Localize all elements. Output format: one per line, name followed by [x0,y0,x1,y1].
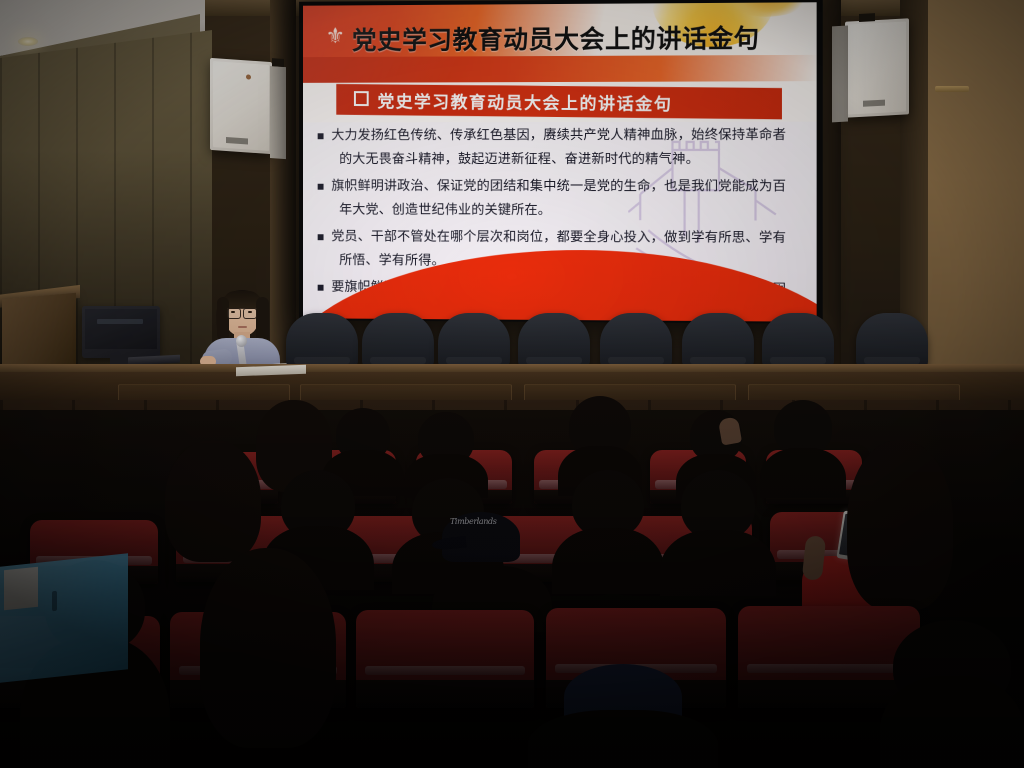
wall-speaker-left [210,58,272,154]
stage-chair [762,313,834,367]
eye-right [248,311,252,313]
monitor-glow [97,319,143,324]
monitor-stand [110,355,130,364]
bullet-line-2: 的大无畏奋斗精神，鼓起迈进新征程、奋进新时代的精气神。 [331,148,802,172]
stage-desk-edge [0,364,1024,372]
speaker-hair-right [256,297,269,343]
audience-raised-hand [712,418,752,458]
door-handle-icon [935,86,969,92]
speaker-side [832,26,848,123]
cpc-hammer-sickle-icon: ⚜ [323,23,348,49]
eye-left [231,311,235,313]
slide-header-ribbon: ⚜ 党史学习教育动员大会上的讲话金句 [303,2,817,83]
audience-person [552,470,664,594]
cap-logo-text: Timberlands [450,517,496,526]
blue-bag-icon [0,553,128,682]
person-shoulders [552,528,664,594]
stage-chair [286,313,358,367]
stage-chair [856,313,928,367]
hand-icon [718,416,742,445]
audience-person [660,470,776,596]
slide-body: 大力发扬红色传统、传承红色基因，赓续共产党人精神血脉，始终保持革命者 的大无畏奋… [303,122,817,322]
audience-person [840,440,960,620]
slide-title: 党史学习教育动员大会上的讲话金句 [352,19,760,57]
stage-chair [518,313,590,367]
person-shoulders [660,530,776,596]
monitor-screen [85,309,157,349]
square-bullet-icon [354,91,369,106]
speaker-logo [863,100,885,107]
bag-label [4,567,38,611]
audience-seat [356,610,534,708]
stage-chair [362,313,434,367]
microphone-head [236,335,247,347]
projection-screen: ⚜ 党史学习教育动员大会上的讲话金句 党史学习教育动员大会上的讲话金句 [299,0,823,324]
lens-right [243,308,257,319]
person-long-hair [847,440,953,610]
bullet-line-1: 党员、干部不管处在哪个层次和岗位，都要全身心投入，做到学有所思、学有 [331,229,786,245]
wall-speaker-right [845,18,909,117]
audience-raised-arm [790,520,830,580]
slide-subheader-text: 党史学习教育动员大会上的讲话金句 [378,92,673,115]
seat-base [356,680,534,708]
speaker-led-icon [246,74,251,79]
stage-chair [682,313,754,367]
desktop-monitor-icon [82,306,160,358]
mouth [238,326,247,328]
audience-person [880,620,1024,768]
speaker-bracket [272,58,284,67]
bullet-line-1: 旗帜鲜明讲政治、保证党的团结和集中统一是党的生命，也是我们党能成为百 [331,179,786,194]
cap-brim [432,536,467,550]
bullet-line-1: 大力发扬红色传统、传承红色基因，赓续共产党人精神血脉，始终保持革命者 [331,128,786,143]
list-item: 旗帜鲜明讲政治、保证党的团结和集中统一是党的生命，也是我们党能成为百 年大党、创… [317,175,803,224]
lecture-hall-photo: ⚜ 党史学习教育动员大会上的讲话金句 党史学习教育动员大会上的讲话金句 [0,0,1024,768]
stage-chair [438,313,510,367]
seated-speaker [196,288,288,372]
eyeglasses-icon [227,308,257,318]
slide-surface: ⚜ 党史学习教育动员大会上的讲话金句 党史学习教育动员大会上的讲话金句 [303,2,817,321]
audience-person-with-cap [528,664,718,768]
person-shoulders [880,676,1024,768]
person-long-hair [200,548,336,748]
recessed-downlight-icon [18,37,38,46]
arm-icon [802,535,826,581]
baseball-cap-icon: Timberlands [442,512,520,562]
slide-subheader-text-wrap: 党史学习教育动员大会上的讲话金句 [354,87,673,115]
lens-left [227,308,241,319]
bullet-line-2: 年大党、创造世纪伟业的关键所在。 [331,199,802,224]
speaker-bracket [859,13,875,22]
bag-slot [52,591,57,612]
speaker-side [270,66,286,159]
audience-person [188,548,348,768]
list-item: 大力发扬红色传统、传承红色基因，赓续共产党人精神血脉，始终保持革命者 的大无畏奋… [317,124,803,173]
seat-rail [365,666,525,675]
stage-chair [600,313,672,367]
slide-subheader-band: 党史学习教育动员大会上的讲话金句 [336,84,782,119]
speaker-hair-left [217,297,229,341]
person-shoulders [528,710,718,768]
person-long-hair [165,440,261,562]
